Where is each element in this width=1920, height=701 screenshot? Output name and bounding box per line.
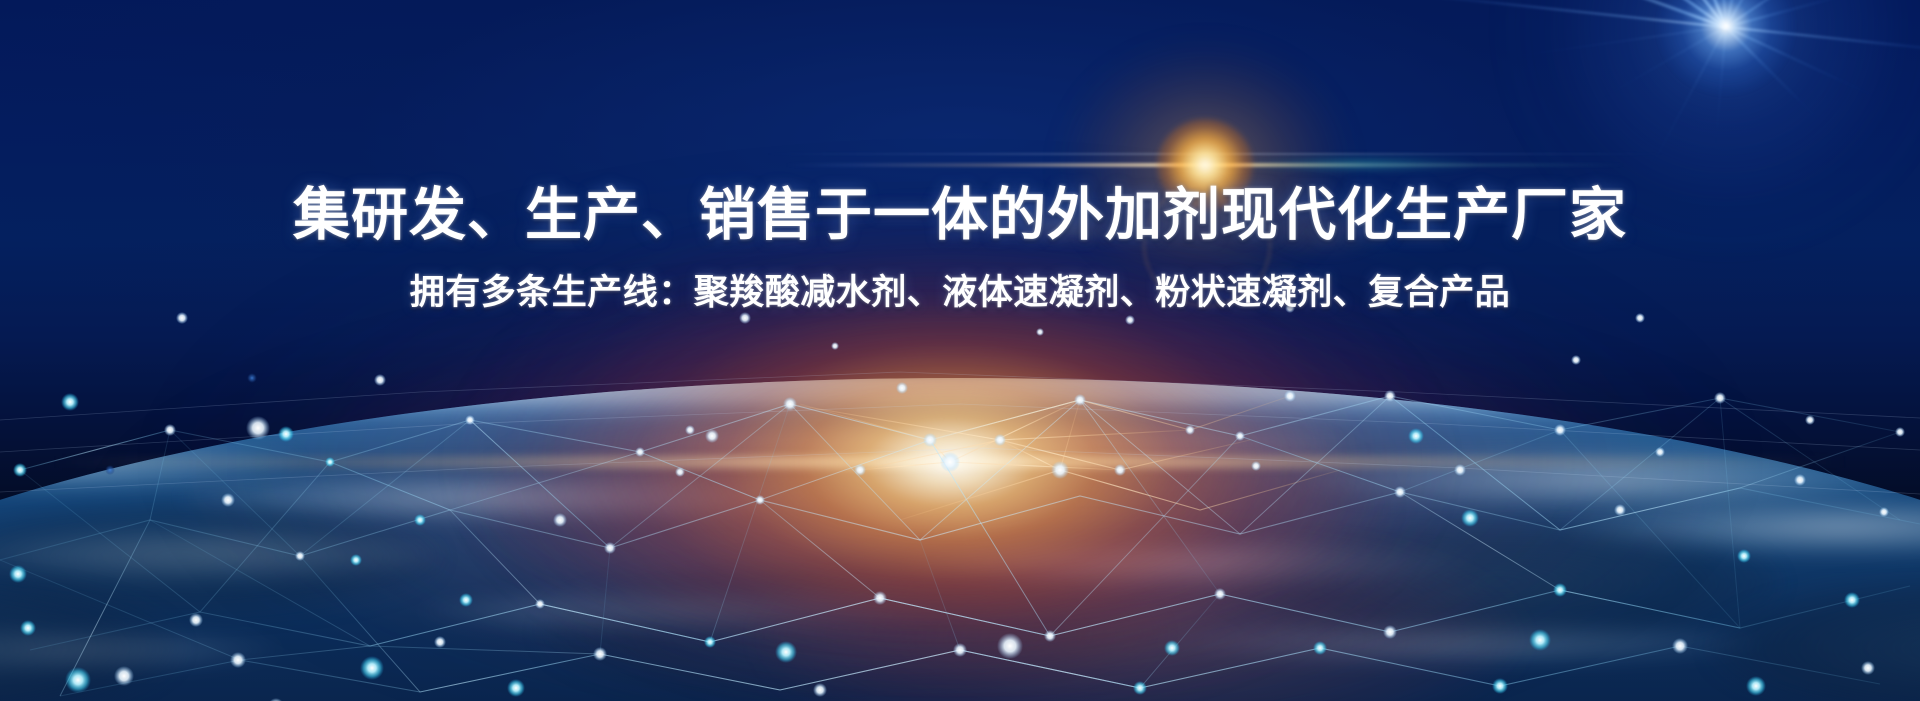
banner-copy: 集研发、生产、销售于一体的外加剂现代化生产厂家 拥有多条生产线：聚羧酸减水剂、液…	[0, 182, 1920, 314]
page-subtitle: 拥有多条生产线：聚羧酸减水剂、液体速凝剂、粉状速凝剂、复合产品	[0, 272, 1920, 314]
hero-banner: 集研发、生产、销售于一体的外加剂现代化生产厂家 拥有多条生产线：聚羧酸减水剂、液…	[0, 0, 1920, 701]
page-title: 集研发、生产、销售于一体的外加剂现代化生产厂家	[0, 182, 1920, 248]
